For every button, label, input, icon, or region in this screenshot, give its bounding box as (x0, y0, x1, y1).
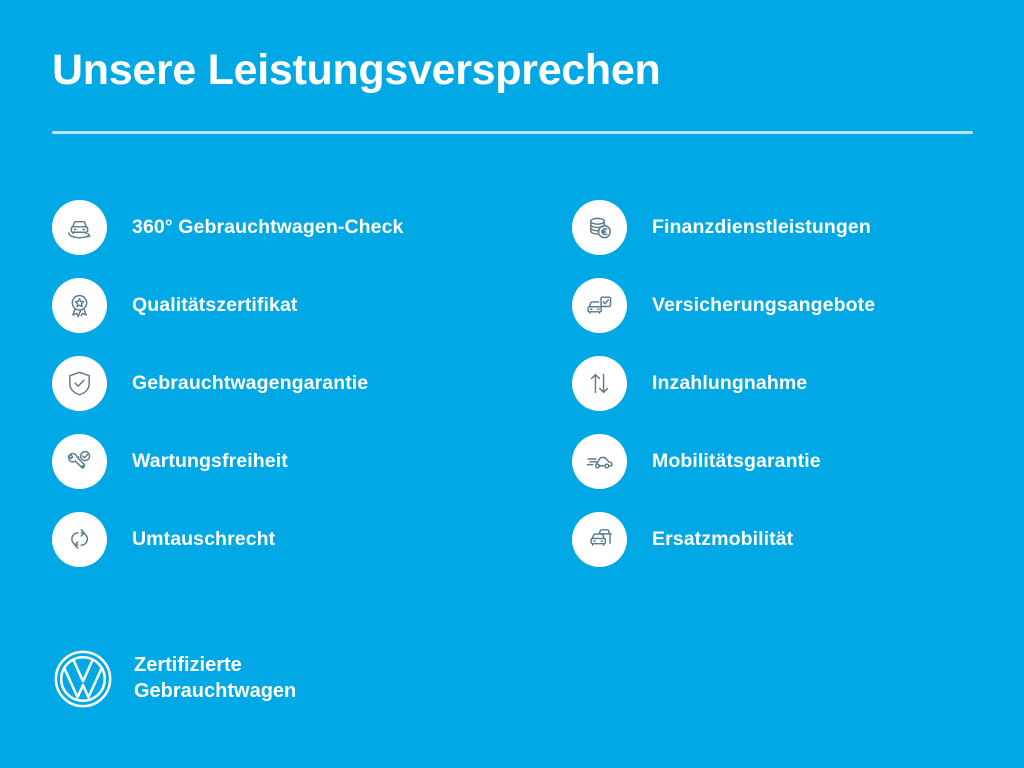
list-item[interactable]: Gebrauchtwagengarantie (52, 356, 572, 411)
list-item[interactable]: Finanzdienstleistungen (572, 200, 974, 255)
brand-line-2: Gebrauchtwagen (134, 679, 296, 705)
coins-euro-icon (572, 200, 627, 255)
wrench-check-icon (52, 434, 107, 489)
two-cars-icon (572, 512, 627, 567)
list-item-label: Wartungsfreiheit (132, 450, 288, 473)
list-item[interactable]: Qualitätszertifikat (52, 278, 572, 333)
promises-slide: Unsere Leistungsversprechen 360° Gebrauc (0, 0, 1024, 768)
brand-lockup: Zertifizierte Gebrauchtwagen (52, 648, 296, 710)
list-item-label: Umtauschrecht (132, 528, 275, 551)
list-item-label: Versicherungsangebote (652, 294, 875, 317)
list-item[interactable]: Wartungsfreiheit (52, 434, 572, 489)
volkswagen-logo-icon (52, 648, 114, 710)
exchange-arrows-icon (52, 512, 107, 567)
promises-right-column: Finanzdienstleistungen Versicherungsange… (572, 200, 974, 567)
arrows-up-down-icon (572, 356, 627, 411)
list-item-label: Finanzdienstleistungen (652, 216, 871, 239)
page-title: Unsere Leistungsversprechen (52, 48, 974, 93)
title-divider (52, 131, 973, 134)
list-item[interactable]: Ersatzmobilität (572, 512, 974, 567)
car-motion-icon (572, 434, 627, 489)
car-document-check-icon (572, 278, 627, 333)
list-item[interactable]: Umtauschrecht (52, 512, 572, 567)
list-item-label: Ersatzmobilität (652, 528, 793, 551)
list-item-label: 360° Gebrauchtwagen-Check (132, 216, 403, 239)
shield-check-icon (52, 356, 107, 411)
list-item-label: Mobilitätsgarantie (652, 450, 821, 473)
promises-left-column: 360° Gebrauchtwagen-Check Qualitätszerti… (52, 200, 572, 567)
list-item-label: Gebrauchtwagengarantie (132, 372, 368, 395)
brand-text: Zertifizierte Gebrauchtwagen (134, 653, 296, 704)
header: Unsere Leistungsversprechen (52, 48, 974, 93)
list-item-label: Inzahlungnahme (652, 372, 807, 395)
promises-columns: 360° Gebrauchtwagen-Check Qualitätszerti… (52, 200, 974, 567)
list-item-label: Qualitätszertifikat (132, 294, 298, 317)
award-medal-icon (52, 278, 107, 333)
list-item[interactable]: Mobilitätsgarantie (572, 434, 974, 489)
brand-line-1: Zertifizierte (134, 653, 296, 679)
list-item[interactable]: Versicherungsangebote (572, 278, 974, 333)
list-item[interactable]: Inzahlungnahme (572, 356, 974, 411)
list-item[interactable]: 360° Gebrauchtwagen-Check (52, 200, 572, 255)
car-360-check-icon (52, 200, 107, 255)
